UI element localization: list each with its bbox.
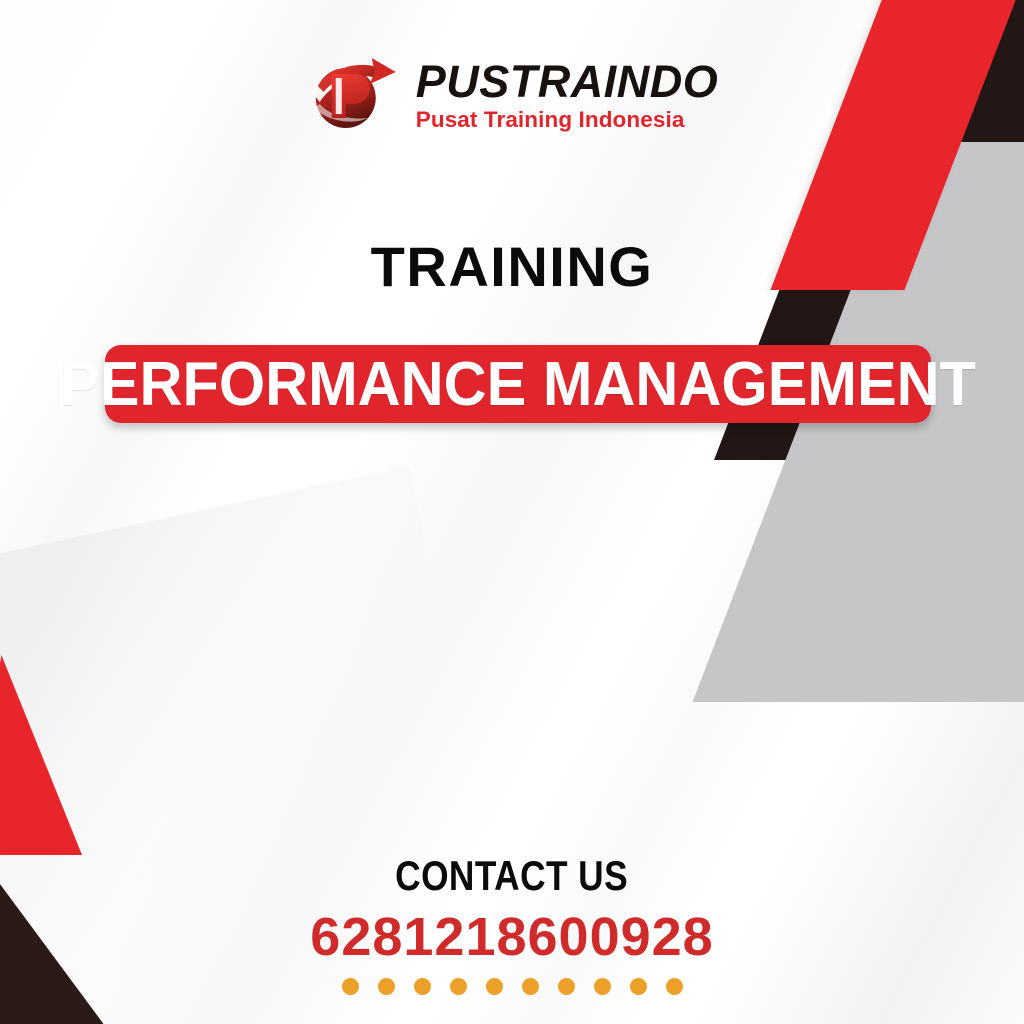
decorative-dot-row	[0, 978, 1024, 995]
decorative-dot	[378, 978, 395, 995]
pustraindo-globe-arrow-icon	[306, 52, 402, 138]
brand-logo: PUSTRAINDO Pusat Training Indonesia	[306, 52, 719, 138]
training-kicker: TRAINING	[0, 234, 1024, 299]
title-banner: PERFORMANCE MANAGEMENT	[105, 345, 931, 423]
contact-block: CONTACT US 6281218600928	[0, 852, 1024, 968]
brand-name: PUSTRAINDO	[416, 59, 719, 104]
decorative-dot	[522, 978, 539, 995]
contact-label: CONTACT US	[396, 852, 629, 900]
decorative-dot	[666, 978, 683, 995]
decorative-dot	[486, 978, 503, 995]
promo-poster: PUSTRAINDO Pusat Training Indonesia TRAI…	[0, 0, 1024, 1024]
decorative-dot	[342, 978, 359, 995]
decorative-dot	[558, 978, 575, 995]
brand-tagline: Pusat Training Indonesia	[416, 109, 719, 132]
decorative-dot	[450, 978, 467, 995]
decorative-dot	[414, 978, 431, 995]
decorative-dot	[594, 978, 611, 995]
banner-title: PERFORMANCE MANAGEMENT	[60, 349, 976, 420]
decorative-dot	[630, 978, 647, 995]
contact-phone-number[interactable]: 6281218600928	[0, 906, 1024, 968]
brand-wordmark: PUSTRAINDO Pusat Training Indonesia	[416, 59, 719, 132]
